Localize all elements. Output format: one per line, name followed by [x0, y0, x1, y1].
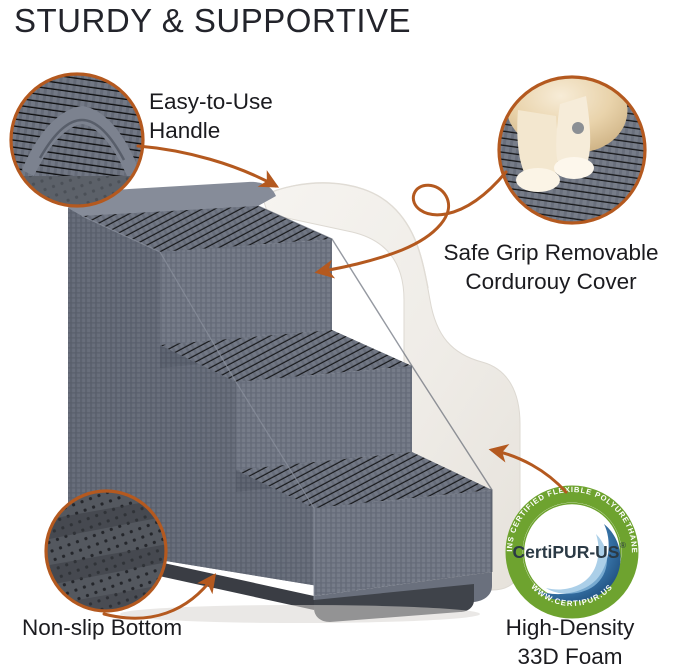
callout-nonslip [44, 489, 168, 620]
badge-wordmark: CertiPUR-US [513, 542, 620, 562]
callout-cover [498, 72, 648, 227]
badge-registered-mark: ® [620, 541, 626, 550]
infographic-canvas: STURDY & SUPPORTIVE [0, 0, 679, 672]
product-illustration: CertiPUR-US ® CONTAINS CERTIFIED FLEXIBL… [0, 0, 679, 672]
label-non-slip-bottom: Non-slip Bottom [22, 614, 182, 643]
label-easy-to-use-handle: Easy-to-Use Handle [149, 88, 273, 146]
arrow-handle [138, 146, 276, 186]
label-safe-grip-cover: Safe Grip Removable Cordurouy Cover [428, 239, 674, 297]
label-high-density-foam: High-Density 33D Foam [470, 614, 670, 672]
